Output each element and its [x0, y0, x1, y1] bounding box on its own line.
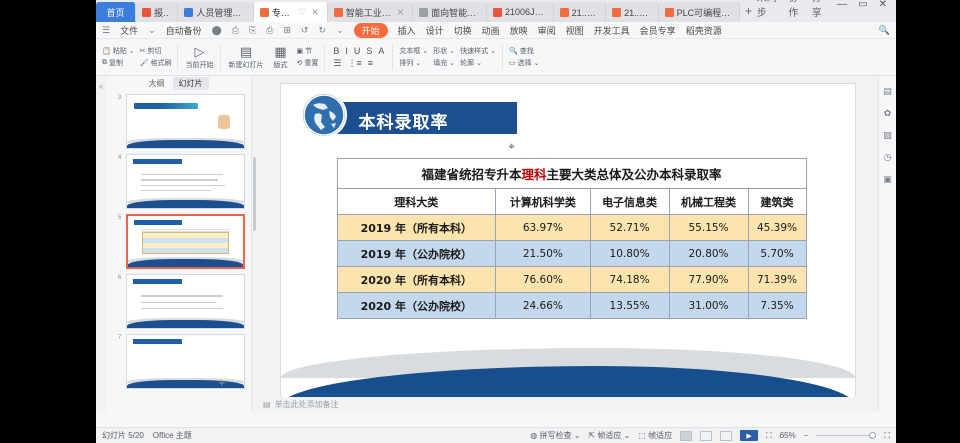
section-button[interactable]: ▣ 节 [296, 46, 318, 56]
tab-design[interactable]: 设计 [426, 24, 444, 37]
clipboard-group: 📋 粘贴⌄ ⧉ 复制 [100, 40, 137, 75]
zoom-fit-icon[interactable]: ⛶ [766, 431, 772, 441]
select-button[interactable]: ▭ 选择⌄ [509, 58, 540, 68]
slide-canvas-area[interactable]: 本科录取率 福建省统招专升本理科主要大类总体及公办本科录取率 理科大类 计算机科… [257, 76, 878, 412]
section-icon: ▣ [296, 47, 303, 55]
slide-thumbnail-panel: 大纲 幻灯片 3 4 [106, 76, 252, 412]
layout-button[interactable]: ▦ 版式 [267, 40, 293, 75]
editing-group: 🔍 查找 ▭ 选择⌄ [507, 40, 542, 75]
ppt-icon [334, 8, 343, 17]
font-color-button[interactable]: A [376, 46, 386, 56]
maximize-icon[interactable]: ▭ [856, 0, 869, 10]
list-item[interactable] [126, 154, 245, 209]
column-header-arch: 建筑类 [748, 189, 806, 215]
paste-icon: 📋 [102, 47, 111, 55]
list-item[interactable] [126, 274, 245, 329]
tab-close-icon[interactable]: ♡ [298, 7, 306, 18]
normal-view-button[interactable] [680, 431, 692, 441]
scissors-icon: ✂ [140, 47, 146, 55]
slide-sorter-view-button[interactable] [700, 431, 712, 441]
reset-button[interactable]: ⟲ 重置 [296, 58, 318, 68]
right-letterbox [896, 0, 960, 443]
right-side-toolbar: ▤ ✿ ▧ ◷ ▣ [878, 76, 896, 412]
thumbnail-number: 3 [116, 94, 123, 149]
toggle-switch-icon[interactable]: ⬤ [212, 25, 222, 36]
thumbnail-row-selected: 5 [116, 214, 245, 269]
left-letterbox [0, 0, 96, 443]
workspace: « 大纲 幻灯片 3 4 [96, 76, 896, 412]
add-slide-button[interactable]: + [218, 375, 226, 390]
list-item[interactable] [126, 94, 245, 149]
play-slideshow-button[interactable]: ▶ [740, 430, 758, 441]
copy-icon: ⧉ [102, 59, 107, 67]
table-row: 2019 年（公办院校） 21.50% 10.80% 20.80% 5.70% [337, 241, 806, 267]
tab-document-1[interactable]: 报告 [136, 2, 178, 22]
paragraph-row: ☰ ⋮≡ ≡ [331, 58, 386, 69]
thumbnail-list[interactable]: 3 4 [106, 91, 251, 412]
table-title-row: 福建省统招专升本理科主要大类总体及公办本科录取率 [337, 159, 806, 189]
tab-outline[interactable]: 大纲 [149, 78, 165, 89]
zoom-slider[interactable] [816, 435, 876, 436]
column-header-ee: 电子信息类 [590, 189, 669, 215]
layout-icon: ▦ [274, 45, 286, 58]
tab-close-icon-2[interactable]: ✕ [311, 7, 319, 18]
panel-collapse-button[interactable]: « [96, 76, 106, 412]
start-from-current-button[interactable]: ▷ 当前开始 [182, 40, 216, 75]
thumb-text-line [141, 174, 223, 175]
thumb-banner [134, 103, 198, 109]
thumbnail-row: 3 [116, 94, 245, 149]
tab-docer-resources[interactable]: 稻壳资源 [686, 24, 722, 37]
screenshot-icon[interactable]: ▣ [883, 174, 892, 185]
reset-icon: ⟲ [296, 59, 302, 67]
row-label: 2019 年（所有本科） [337, 215, 496, 241]
thumb-title-bar [133, 339, 182, 344]
zoom-level[interactable]: 65% [780, 431, 796, 440]
pdf-icon [493, 8, 502, 17]
wps-presentation-window: 首页 报告 人员管理统计 专升本 ♡ ✕ 智能工业科... ✕ 面向智能建...… [96, 0, 896, 443]
style-outline-group: 快速样式⌄ 轮廓⌄ [458, 40, 498, 75]
share-button[interactable]: 分享 [812, 0, 828, 19]
row-label: 2019 年（公办院校） [337, 241, 496, 267]
strikethrough-button[interactable]: S [364, 46, 374, 56]
cell-value: 21.50% [496, 241, 590, 267]
fullscreen-button[interactable]: ⛶ [884, 431, 890, 441]
thumb-title-bar [134, 220, 182, 225]
outline-button[interactable]: 轮廓⌄ [460, 58, 496, 68]
tab-developer[interactable]: 开发工具 [594, 24, 630, 37]
tab-animation[interactable]: 动画 [482, 24, 500, 37]
quick-style-button[interactable]: 快速样式⌄ [460, 46, 496, 56]
fit-slide-icon: ⇱ [588, 431, 595, 440]
zoom-slider-knob[interactable] [869, 432, 876, 439]
numbered-list-icon[interactable]: ⋮≡ [345, 58, 363, 69]
cut-group: ✂ 剪切 🖌 格式刷 [138, 40, 174, 75]
save-icon[interactable]: ⎙ [232, 25, 239, 36]
panel-tabs: 大纲 幻灯片 [106, 76, 251, 91]
pdf-icon [142, 8, 151, 17]
bold-button[interactable]: B [331, 46, 341, 56]
cloud-sync-label[interactable]: 未同步 [757, 0, 782, 19]
cell-value: 31.00% [669, 293, 748, 319]
close-icon[interactable]: ✕ [397, 7, 405, 18]
list-item-selected[interactable] [126, 214, 245, 269]
format-painter-button[interactable]: 🖌 格式刷 [140, 58, 172, 68]
tab-slides[interactable]: 幻灯片 [173, 77, 209, 90]
status-bar: 幻灯片 5/20 Office 主题 ◍ 拼写检查 ⌄ ⇱ 帧适应 ⌄ ⬚ 帧适… [96, 427, 896, 443]
cell-value: 13.55% [590, 293, 669, 319]
search-icon[interactable]: 🔍 [879, 25, 890, 36]
thumb-title-bar [133, 279, 182, 284]
note-icon: ▤ [263, 400, 271, 409]
cell-value: 52.71% [590, 215, 669, 241]
column-header-category: 理科大类 [337, 189, 496, 215]
cell-value: 55.15% [669, 215, 748, 241]
thumb-table [142, 232, 229, 253]
font-group: B I U S A ☰ ⋮≡ ≡ [329, 40, 388, 75]
cell-value: 74.18% [590, 267, 669, 293]
thumbnail-number: 7 [116, 334, 123, 389]
find-button[interactable]: 🔍 查找 [509, 46, 540, 56]
cell-value: 45.39% [748, 215, 806, 241]
row-label: 2020 年（所有本科） [337, 267, 496, 293]
table-title: 福建省统招专升本理科主要大类总体及公办本科录取率 [337, 159, 806, 189]
tab-insert[interactable]: 插入 [398, 24, 416, 37]
tab-view[interactable]: 视图 [566, 24, 584, 37]
thumb-wave-blue [128, 259, 243, 267]
thumb-text-line [141, 302, 216, 303]
spell-check-button[interactable]: ◍ 拼写检查 ⌄ [530, 430, 580, 441]
shape-style-group: 形状⌄ 填充⌄ [431, 40, 457, 75]
thumb-figure [218, 115, 230, 129]
ribbon-divider [177, 44, 178, 70]
notes-placeholder: 单击此处添加备注 [275, 399, 339, 410]
table-row: 2020 年（所有本科） 76.60% 74.18% 77.90% 71.39% [337, 267, 806, 293]
list-item[interactable] [126, 334, 245, 389]
ribbon-right-actions: 🔍 [879, 25, 890, 36]
ppt-icon [260, 8, 269, 17]
fit-slide-button[interactable]: ⇱ 帧适应 ⌄ [588, 430, 630, 441]
italic-button[interactable]: I [343, 46, 350, 56]
minimize-icon[interactable]: — [835, 0, 849, 10]
thumbnail-row: 6 [116, 274, 245, 329]
text-shape-group: 文本框⌄ 排列⌄ [397, 40, 430, 75]
cell-value: 5.70% [748, 241, 806, 267]
thumb-text-line [141, 185, 225, 186]
tab-document-9[interactable]: PLC可编程控... [659, 2, 741, 22]
cell-value: 71.39% [748, 267, 806, 293]
font-style-row: B I U S A [331, 46, 386, 56]
ppt-icon [665, 8, 674, 17]
menu-icon[interactable]: ☰ [102, 25, 110, 36]
paste-button[interactable]: 📋 粘贴⌄ [102, 46, 135, 56]
tab-home[interactable]: 首页 [96, 2, 136, 22]
globe-icon [301, 92, 347, 138]
brush-icon: 🖌 [140, 59, 149, 67]
theme-label[interactable]: Office 主题 [153, 430, 192, 441]
sheet-icon [184, 8, 193, 17]
fill-button[interactable]: 填充⌄ [433, 58, 455, 68]
settings-icon[interactable]: ✿ [884, 108, 892, 119]
copy-button[interactable]: ⧉ 复制 [102, 58, 135, 68]
thumb-wave-blue [127, 140, 244, 148]
text-box-button[interactable]: 文本框⌄ [399, 46, 428, 56]
tab-document-3-active[interactable]: 专升本 ♡ ✕ [254, 2, 328, 22]
undo-icon[interactable]: ↺ [301, 25, 309, 36]
autosave-toggle[interactable]: 自动备份 [166, 24, 202, 37]
thumb-wave-blue [127, 380, 244, 388]
thumb-text-line [141, 179, 218, 180]
cell-value: 7.35% [748, 293, 806, 319]
collaborate-button[interactable]: 协作 [788, 0, 804, 19]
table-row: 2019 年（所有本科） 63.97% 52.71% 55.15% 45.39% [337, 215, 806, 241]
clipboard-icon[interactable]: ▧ [883, 130, 892, 141]
mouse-cursor-icon: ⌖ [509, 141, 515, 154]
tab-review[interactable]: 审阅 [538, 24, 556, 37]
tab-document-2[interactable]: 人员管理统计 [178, 2, 253, 22]
new-tab-button[interactable]: + [740, 4, 756, 18]
underline-button[interactable]: U [352, 46, 363, 56]
ppt-icon [560, 8, 569, 17]
thumb-wave-blue [127, 320, 244, 328]
thumbnail-number: 5 [116, 214, 123, 269]
close-icon[interactable]: ✕ [877, 0, 889, 10]
cell-value: 20.80% [669, 241, 748, 267]
thumbnail-row: 7 [116, 334, 245, 389]
cell-value: 77.90% [669, 267, 748, 293]
spell-check-icon: ◍ [530, 431, 537, 440]
tab-document-5[interactable]: 面向智能建... [413, 2, 487, 22]
new-slide-icon: ▤ [240, 45, 252, 58]
page-title: 本科录取率 [359, 108, 449, 133]
shape-button[interactable]: 形状⌄ [433, 46, 455, 56]
reading-view-button[interactable] [720, 431, 732, 441]
bullet-list-icon[interactable]: ☰ [331, 58, 343, 69]
status-right: ◍ 拼写检查 ⌄ ⇱ 帧适应 ⌄ ⬚ 帧适应 ▶ ⛶ 65% − ⛶ [530, 430, 890, 441]
cell-value: 63.97% [496, 215, 590, 241]
window-actions: 未同步 协作 分享 — ▭ ✕ [757, 0, 896, 22]
cut-button[interactable]: ✂ 剪切 [140, 46, 172, 56]
play-icon: ▷ [194, 45, 204, 58]
notes-pane[interactable]: ▤ 单击此处添加备注 [257, 397, 878, 412]
thumbnail-row: 4 [116, 154, 245, 209]
thumb-text-line [141, 295, 223, 296]
history-icon[interactable]: ◷ [884, 152, 892, 163]
ribbon-divider [324, 44, 325, 70]
table-row: 2020 年（公办院校） 24.66% 13.55% 31.00% 7.35% [337, 293, 806, 319]
ribbon-divider [502, 44, 503, 70]
properties-icon[interactable]: ▤ [883, 86, 892, 97]
table-header-row: 理科大类 计算机科学类 电子信息类 机械工程类 建筑类 [337, 189, 806, 215]
data-table[interactable]: 福建省统招专升本理科主要大类总体及公办本科录取率 理科大类 计算机科学类 电子信… [337, 158, 807, 319]
chevron-down-icon[interactable]: ⌄ [148, 25, 156, 36]
redo-icon[interactable]: ↻ [318, 25, 326, 36]
tab-slideshow[interactable]: 放映 [510, 24, 528, 37]
ribbon-tab-strip: ☰ 文件 ⌄ 自动备份 ⬤ ⎙ ⎘ ⎙ ⊞ ↺ ↻ ⌄ 开始 插入 设计 切换 … [96, 22, 896, 39]
tab-member[interactable]: 会员专享 [640, 24, 676, 37]
arrange-button[interactable]: 排列⌄ [399, 58, 428, 68]
print-preview-icon[interactable]: ⎘ [249, 25, 256, 36]
table-title-highlight: 理科 [521, 167, 546, 182]
file-menu-button[interactable]: 文件 [120, 24, 138, 37]
column-header-cs: 计算机科学类 [496, 189, 590, 215]
ribbon-toolbar: 📋 粘贴⌄ ⧉ 复制 ✂ 剪切 🖌 格式刷 ▷ 当前开始 ▤ [96, 39, 896, 76]
document-tab-bar: 首页 报告 人员管理统计 专升本 ♡ ✕ 智能工业科... ✕ 面向智能建...… [96, 0, 896, 22]
zoom-out-button[interactable]: − [804, 431, 809, 440]
ppt-icon [612, 8, 621, 17]
tab-document-7[interactable]: 21...图] [554, 2, 606, 22]
column-header-me: 机械工程类 [669, 189, 748, 215]
cell-value: 76.60% [496, 267, 590, 293]
doc-icon [419, 8, 428, 17]
new-icon[interactable]: ⊞ [283, 25, 291, 36]
slide-counter: 幻灯片 5/20 [102, 430, 144, 441]
thumb-title-bar [133, 159, 182, 164]
cell-value: 24.66% [496, 293, 590, 319]
tab-document-8[interactable]: 21...图] [606, 2, 658, 22]
tab-document-6[interactable]: 21006J205 [487, 2, 554, 22]
thumb-wave-blue [127, 200, 244, 208]
tab-start[interactable]: 开始 [354, 23, 388, 38]
tab-transition[interactable]: 切换 [454, 24, 472, 37]
ribbon-divider [392, 44, 393, 70]
fit-window-icon: ⬚ [638, 431, 646, 440]
ribbon-divider [220, 44, 221, 70]
thumb-text-line [141, 190, 211, 191]
fit-window-button[interactable]: ⬚ 帧适应 [638, 430, 672, 441]
thumb-text-line [141, 308, 223, 309]
align-icon[interactable]: ≡ [366, 58, 375, 68]
scrollbar-thumb[interactable] [253, 157, 256, 231]
slide-5[interactable]: 本科录取率 福建省统招专升本理科主要大类总体及公办本科录取率 理科大类 计算机科… [281, 84, 855, 406]
customize-icon[interactable]: ⌄ [336, 25, 344, 36]
search-icon: 🔍 [509, 47, 518, 55]
tab-document-4[interactable]: 智能工业科... ✕ [328, 2, 413, 22]
cell-value: 10.80% [590, 241, 669, 267]
new-slide-button[interactable]: ▤ 新建幻灯片 [225, 40, 266, 75]
section-reset-group: ▣ 节 ⟲ 重置 [294, 40, 320, 75]
row-label: 2020 年（公办院校） [337, 293, 496, 319]
thumbnail-number: 4 [116, 154, 123, 209]
print-icon[interactable]: ⎙ [266, 25, 273, 36]
select-icon: ▭ [509, 59, 516, 67]
thumbnail-number: 6 [116, 274, 123, 329]
